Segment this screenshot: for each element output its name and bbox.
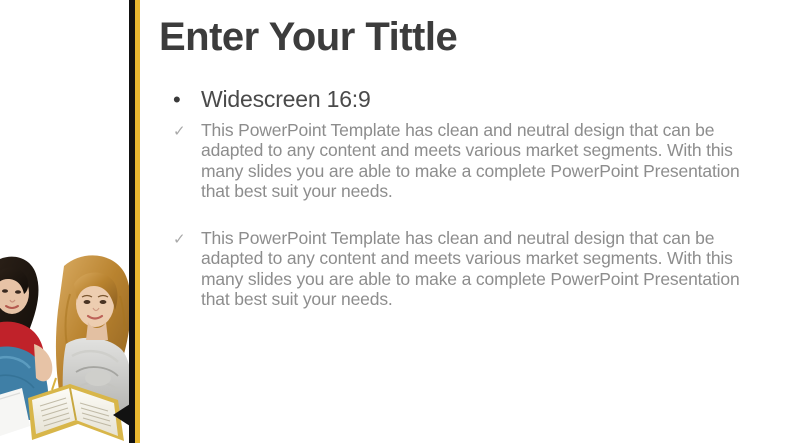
list-item: ✓ This PowerPoint Template has clean and…: [173, 228, 763, 310]
lead-list-item-label: Widescreen 16:9: [201, 86, 371, 114]
lead-list-item: • Widescreen 16:9: [173, 86, 763, 114]
list-item-label: This PowerPoint Template has clean and n…: [201, 228, 746, 310]
students-photo: [0, 248, 129, 443]
checkmark-icon: ✓: [173, 120, 201, 142]
left-decoration-panel: [0, 0, 141, 443]
list-item-label: This PowerPoint Template has clean and n…: [201, 120, 746, 202]
gold-vertical-bar: [135, 0, 140, 443]
left-pointing-triangle-marker: [113, 404, 130, 426]
page-title: Enter Your Tittle: [159, 15, 457, 59]
slide-canvas: Enter Your Tittle • Widescreen 16:9 ✓ Th…: [0, 0, 788, 443]
list-item: ✓ This PowerPoint Template has clean and…: [173, 120, 763, 202]
checkmark-icon: ✓: [173, 228, 201, 250]
slide-content: Enter Your Tittle • Widescreen 16:9 ✓ Th…: [141, 0, 788, 443]
body-content: • Widescreen 16:9 ✓ This PowerPoint Temp…: [173, 86, 763, 336]
bullet-dot-icon: •: [173, 89, 201, 111]
